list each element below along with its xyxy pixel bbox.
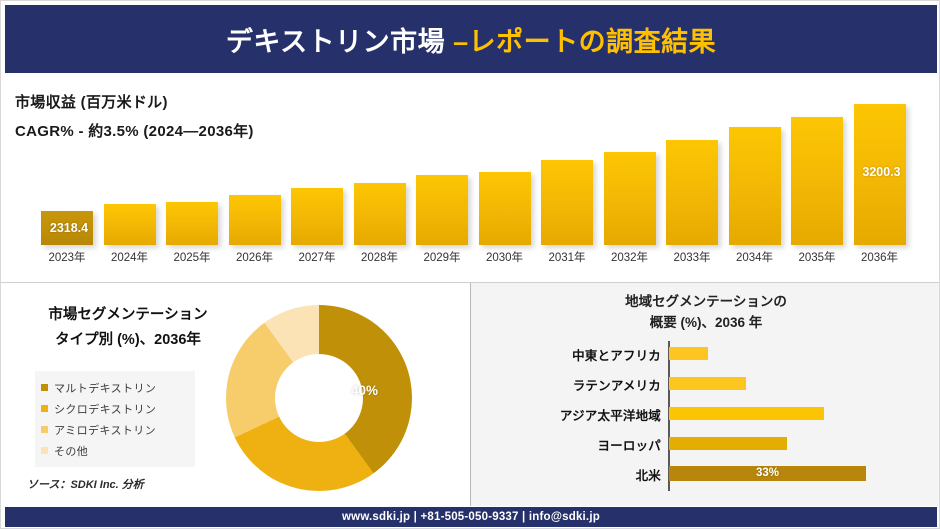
revenue-bar [604,95,656,245]
region-title-line2: 概要 (%)、2036 年 [471,312,940,333]
revenue-x-label: 2030年 [476,249,534,265]
revenue-bar: 3200.3 [854,95,906,245]
revenue-bar [354,95,406,245]
revenue-bar-rect [229,195,281,245]
region-bar [669,437,787,450]
region-row: ヨーロッパ [471,429,940,459]
footer-contact-text: www.sdki.jp | +81-505-050-9337 | info@sd… [342,511,600,523]
donut-legend-item: シクロデキストリン [41,398,191,419]
revenue-bar-rect [416,175,468,245]
revenue-x-label: 2028年 [351,249,409,265]
region-bar-value-label: 33% [669,466,866,481]
revenue-x-axis-labels: 2023年2024年2025年2026年2027年2028年2029年2030年… [31,249,921,271]
revenue-bar-rect [166,202,218,245]
region-bar [669,347,708,360]
revenue-x-label: 2024年 [101,249,159,265]
region-row: 中東とアフリカ [471,339,940,369]
region-bar: 33% [669,466,866,481]
revenue-bar [729,95,781,245]
revenue-bar [666,95,718,245]
revenue-bar [104,95,156,245]
revenue-x-label: 2034年 [726,249,784,265]
revenue-bar-rect [791,117,843,245]
segmentation-title: 市場セグメンテーション タイプ別 (%)、2036年 [23,303,233,353]
donut-legend-label: シクロデキストリン [54,401,156,417]
legend-swatch-icon [41,405,48,412]
donut-legend-label: その他 [54,443,88,459]
donut-legend-item: アミロデキストリン [41,419,191,440]
revenue-bar [291,95,343,245]
region-bar [669,377,746,390]
donut-chart: 40% [226,305,416,495]
donut-hole [275,354,363,442]
page-title: デキストリン市場 –レポートの調査結果 [226,20,716,59]
region-label: アジア太平洋地域 [471,405,661,424]
revenue-x-label: 2026年 [226,249,284,265]
region-panel: 地域セグメンテーションの 概要 (%)、2036 年 中東とアフリカラテンアメリ… [471,283,940,506]
region-title-line1: 地域セグメンテーションの [471,291,940,312]
revenue-bar-rect [479,172,531,245]
revenue-bar-rect [729,127,781,245]
segmentation-title-line1: 市場セグメンテーション [23,303,233,328]
region-label: ラテンアメリカ [471,375,661,394]
region-row: 北米33% [471,459,940,489]
revenue-bar [166,95,218,245]
revenue-x-label: 2036年 [851,249,909,265]
infographic-page: デキストリン市場 –レポートの調査結果 市場収益 (百万米ドル) CAGR% -… [0,0,940,529]
revenue-bar-rect [354,183,406,245]
revenue-bar-rect [666,140,718,245]
region-label: ヨーロッパ [471,435,661,454]
revenue-x-label: 2029年 [413,249,471,265]
region-row: アジア太平洋地域 [471,399,940,429]
region-bar [669,407,824,420]
legend-swatch-icon [41,447,48,454]
region-label: 北米 [471,465,661,484]
region-label: 中東とアフリカ [471,345,661,364]
revenue-x-label: 2032年 [601,249,659,265]
region-chart-area: 中東とアフリカラテンアメリカアジア太平洋地域ヨーロッパ北米33% [471,339,940,494]
revenue-bar: 2318.4 [41,95,93,245]
donut-legend-item: その他 [41,440,191,461]
donut-legend-label: マルトデキストリン [54,380,156,396]
revenue-bar-rect [104,204,156,245]
page-title-primary: デキストリン市場 [226,27,453,57]
legend-swatch-icon [41,384,48,391]
source-note: ソース：SDKI Inc. 分析 [27,476,144,492]
segmentation-panel: 市場セグメンテーション タイプ別 (%)、2036年 マルトデキストリンシクロデ… [1,283,470,506]
donut-slice-label: 40% [351,383,378,398]
page-title-accent: –レポートの調査結果 [453,27,716,57]
revenue-x-label: 2025年 [163,249,221,265]
donut-legend: マルトデキストリンシクロデキストリンアミロデキストリンその他 [35,371,195,467]
region-title: 地域セグメンテーションの 概要 (%)、2036 年 [471,291,940,333]
footer-band: www.sdki.jp | +81-505-050-9337 | info@sd… [5,507,937,527]
revenue-bar-value-label: 3200.3 [854,165,910,179]
revenue-bar [791,95,843,245]
revenue-bar [479,95,531,245]
donut-legend-label: アミロデキストリン [54,422,156,438]
revenue-x-label: 2027年 [288,249,346,265]
revenue-bar [416,95,468,245]
revenue-bars-area: 2318.43200.3 [31,95,921,245]
revenue-bar [229,95,281,245]
revenue-x-label: 2023年 [38,249,96,265]
region-row: ラテンアメリカ [471,369,940,399]
revenue-bar [541,95,593,245]
revenue-bar-value-label: 2318.4 [41,221,97,235]
revenue-bar-rect [291,188,343,245]
revenue-bar-rect [604,152,656,245]
revenue-bar-rect [541,160,593,245]
segmentation-title-line2: タイプ別 (%)、2036年 [23,328,233,353]
legend-swatch-icon [41,426,48,433]
revenue-chart-panel: 市場収益 (百万米ドル) CAGR% - 約3.5% (2024—2036年) … [1,75,940,281]
donut-legend-item: マルトデキストリン [41,377,191,398]
revenue-x-label: 2031年 [538,249,596,265]
revenue-x-label: 2033年 [663,249,721,265]
header-band: デキストリン市場 –レポートの調査結果 [5,5,937,73]
revenue-x-label: 2035年 [788,249,846,265]
